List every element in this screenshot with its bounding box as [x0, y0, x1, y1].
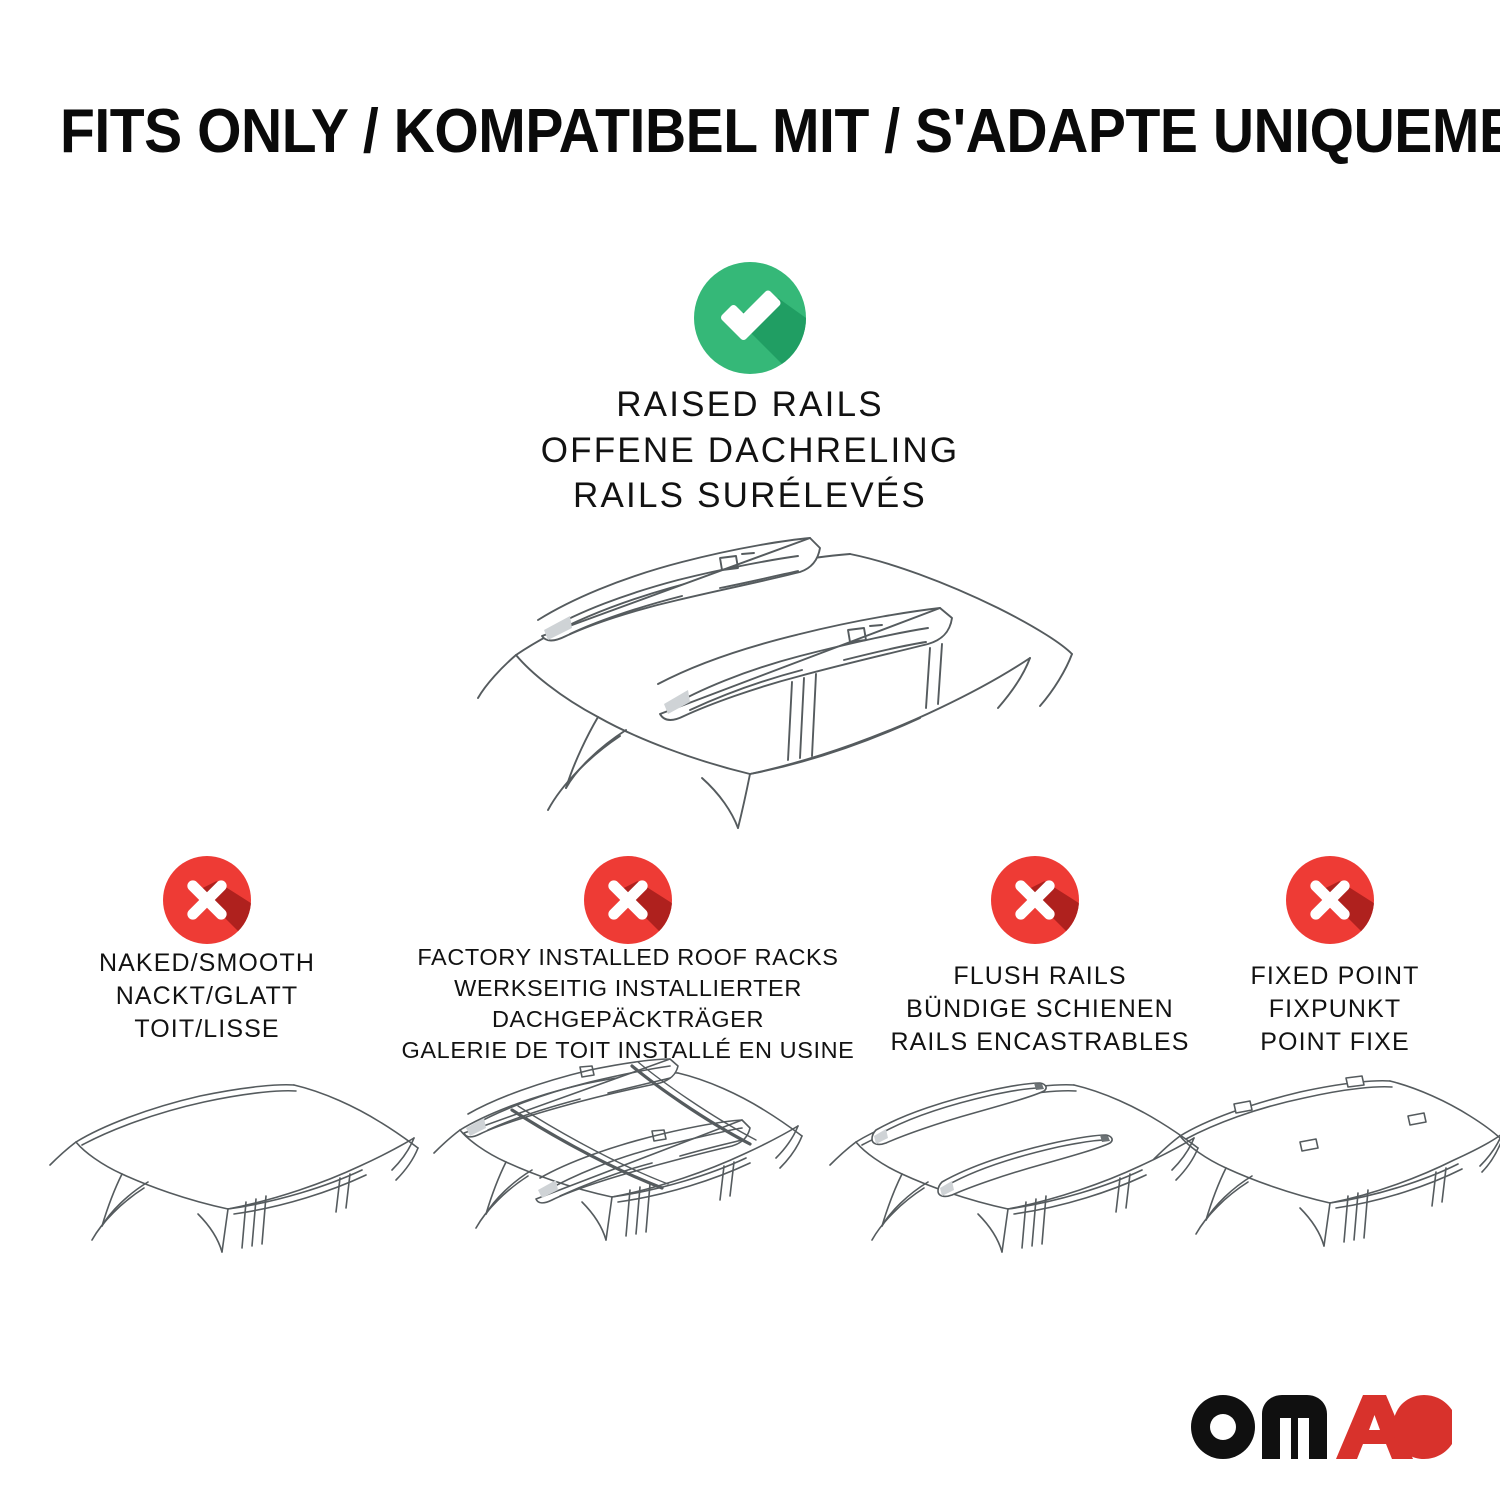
incompatible-1-line-2: NACKT/GLATT — [7, 980, 407, 1013]
illustration-factory-rack — [420, 1058, 810, 1283]
incompatible-1-line-1: NAKED/SMOOTH — [7, 947, 407, 980]
red-cross-circle-icon-3 — [991, 856, 1079, 944]
incompatible-4-line-3: POINT FIXE — [1190, 1026, 1480, 1059]
incompatible-caption-1: NAKED/SMOOTH NACKT/GLATT TOIT/LISSE — [7, 947, 407, 1046]
page-title: FITS ONLY / KOMPATIBEL MIT / S'ADAPTE UN… — [60, 96, 1440, 167]
incompatible-4-line-1: FIXED POINT — [1190, 960, 1480, 993]
compatible-line-2: OFFENE DACHRELING — [0, 428, 1500, 474]
incompatible-3-line-3: RAILS ENCASTRABLES — [855, 1026, 1225, 1059]
compatible-caption: RAISED RAILS OFFENE DACHRELING RAILS SUR… — [0, 382, 1500, 519]
incompatible-4-line-2: FIXPUNKT — [1190, 993, 1480, 1026]
incompatible-2-line-3: DACHGEPÄCKTRÄGER — [398, 1004, 858, 1035]
incompatible-caption-3: FLUSH RAILS BÜNDIGE SCHIENEN RAILS ENCAS… — [855, 960, 1225, 1059]
red-cross-circle-icon-4 — [1286, 856, 1374, 944]
incompatible-3-line-2: BÜNDIGE SCHIENEN — [855, 993, 1225, 1026]
omac-logo — [1190, 1394, 1452, 1460]
compatible-line-1: RAISED RAILS — [0, 382, 1500, 428]
green-check-circle-icon — [694, 262, 806, 374]
incompatible-caption-2: FACTORY INSTALLED ROOF RACKS WERKSEITIG … — [398, 942, 858, 1066]
red-cross-circle-icon-2 — [584, 856, 672, 944]
incompatible-caption-4: FIXED POINT FIXPUNKT POINT FIXE — [1190, 960, 1480, 1059]
illustration-raised-rails — [420, 512, 1080, 842]
illustration-fixed-point — [1150, 1062, 1500, 1282]
illustration-naked-smooth — [40, 1062, 430, 1282]
incompatible-2-line-2: WERKSEITIG INSTALLIERTER — [398, 973, 858, 1004]
red-cross-circle-icon-1 — [163, 856, 251, 944]
incompatible-1-line-3: TOIT/LISSE — [7, 1013, 407, 1046]
incompatible-2-line-1: FACTORY INSTALLED ROOF RACKS — [398, 942, 858, 973]
incompatible-3-line-1: FLUSH RAILS — [855, 960, 1225, 993]
